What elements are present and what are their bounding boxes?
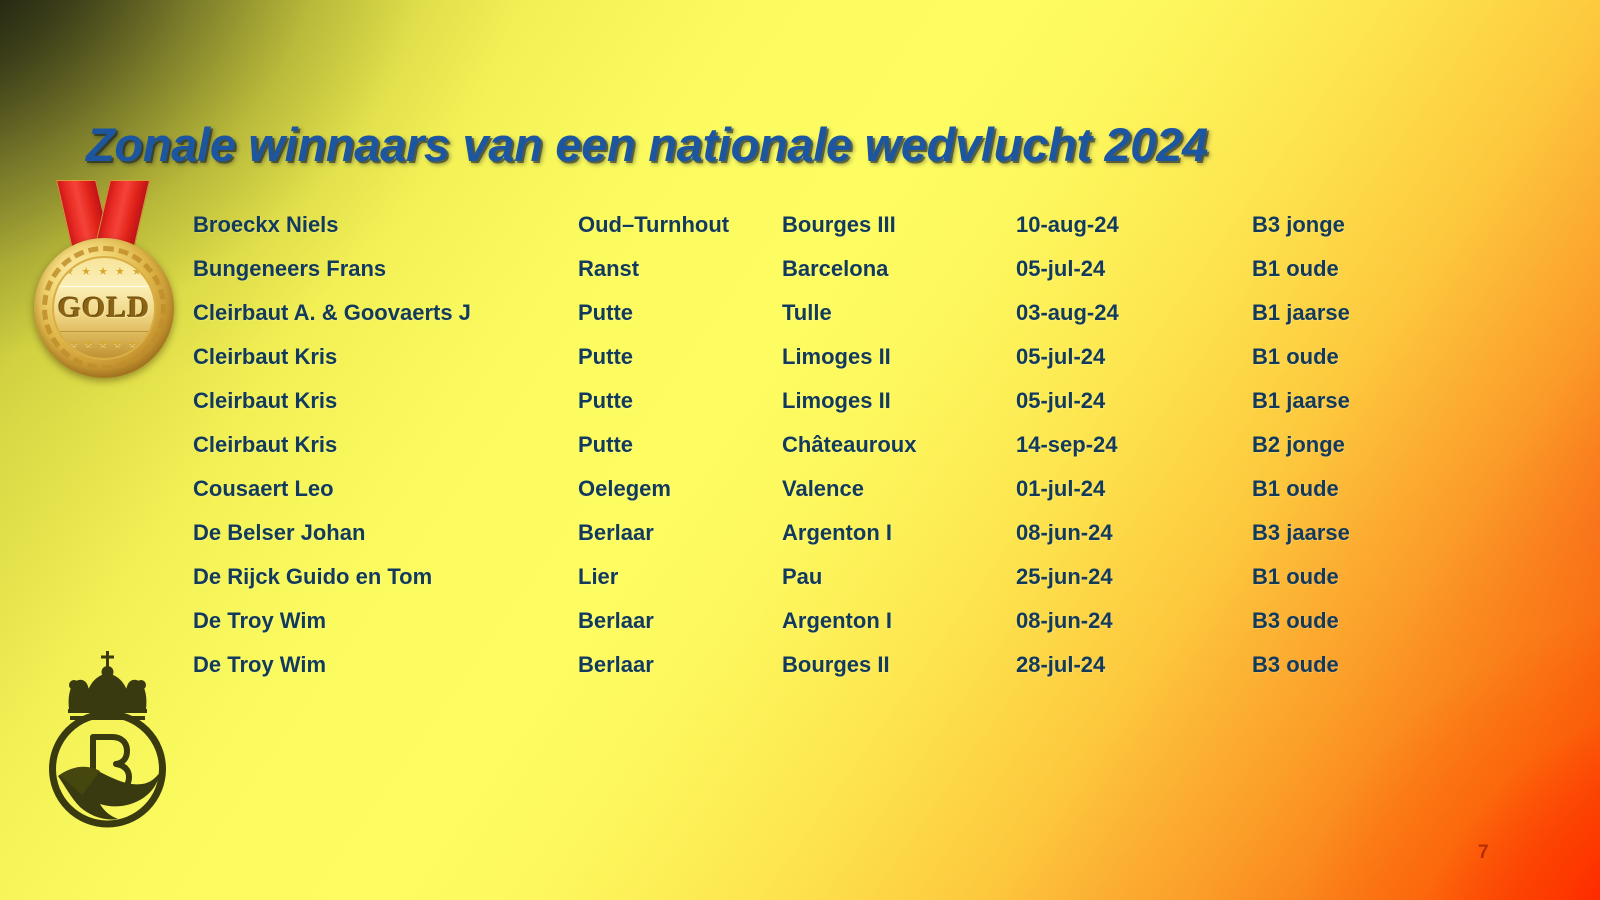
- race-name: Pau: [782, 555, 822, 599]
- winner-name: Broeckx Niels: [193, 203, 339, 247]
- race-date: 10-aug-24: [1016, 203, 1119, 247]
- winner-name: De Belser Johan: [193, 511, 365, 555]
- race-date: 14-sep-24: [1016, 423, 1118, 467]
- table-row: De Troy WimBerlaarArgenton I08-jun-24B3 …: [193, 599, 1483, 643]
- race-name: Châteauroux: [782, 423, 916, 467]
- winner-name: Cleirbaut A. & Goovaerts J: [193, 291, 471, 335]
- race-date: 08-jun-24: [1016, 511, 1113, 555]
- race-category: B3 jonge: [1252, 203, 1345, 247]
- table-row: Cleirbaut KrisPutteLimoges II05-jul-24B1…: [193, 335, 1483, 379]
- table-row: Bungeneers FransRanstBarcelona05-jul-24B…: [193, 247, 1483, 291]
- page-number: 7: [1478, 842, 1489, 864]
- race-category: B3 oude: [1252, 599, 1339, 643]
- race-date: 08-jun-24: [1016, 599, 1113, 643]
- race-name: Bourges II: [782, 643, 890, 687]
- race-category: B2 jonge: [1252, 423, 1345, 467]
- race-date: 05-jul-24: [1016, 379, 1105, 423]
- winner-name: De Troy Wim: [193, 599, 326, 643]
- race-category: B1 oude: [1252, 555, 1339, 599]
- table-row: Cousaert LeoOelegemValence01-jul-24B1 ou…: [193, 467, 1483, 511]
- race-name: Tulle: [782, 291, 832, 335]
- winner-city: Putte: [578, 423, 633, 467]
- race-date: 03-aug-24: [1016, 291, 1119, 335]
- page-title: Zonale winnaars van een nationale wedvlu…: [86, 117, 1506, 172]
- winner-city: Berlaar: [578, 599, 654, 643]
- race-name: Barcelona: [782, 247, 888, 291]
- race-category: B1 oude: [1252, 467, 1339, 511]
- table-row: De Rijck Guido en TomLierPau25-jun-24B1 …: [193, 555, 1483, 599]
- race-category: B3 jaarse: [1252, 511, 1350, 555]
- winner-name: De Troy Wim: [193, 643, 326, 687]
- medal-disc: ★ ★ ★ ★ ★ GOLD ★ ★ ★ ★ ★: [34, 238, 174, 378]
- race-date: 28-jul-24: [1016, 643, 1105, 687]
- table-row: Cleirbaut A. & Goovaerts JPutteTulle03-a…: [193, 291, 1483, 335]
- race-date: 05-jul-24: [1016, 335, 1105, 379]
- race-name: Argenton I: [782, 511, 892, 555]
- table-row: Cleirbaut KrisPutteLimoges II05-jul-24B1…: [193, 379, 1483, 423]
- race-date: 01-jul-24: [1016, 467, 1105, 511]
- winner-name: Cleirbaut Kris: [193, 335, 337, 379]
- race-category: B1 jaarse: [1252, 291, 1350, 335]
- medal-stars-bottom: ★ ★ ★ ★ ★: [54, 340, 154, 349]
- race-name: Valence: [782, 467, 864, 511]
- presentation-slide: Zonale winnaars van een nationale wedvlu…: [0, 0, 1600, 900]
- medal-divider-bottom: [54, 331, 154, 332]
- table-row: De Belser JohanBerlaarArgenton I08-jun-2…: [193, 511, 1483, 555]
- winner-name: Cleirbaut Kris: [193, 379, 337, 423]
- table-row: De Troy WimBerlaarBourges II28-jul-24B3 …: [193, 643, 1483, 687]
- race-name: Limoges II: [782, 379, 891, 423]
- winner-city: Oelegem: [578, 467, 671, 511]
- race-category: B1 oude: [1252, 335, 1339, 379]
- medal-divider-top: [54, 286, 154, 287]
- winner-city: Lier: [578, 555, 618, 599]
- medal-inner-face: ★ ★ ★ ★ ★ GOLD ★ ★ ★ ★ ★: [52, 256, 156, 360]
- winner-name: Bungeneers Frans: [193, 247, 386, 291]
- race-category: B1 oude: [1252, 247, 1339, 291]
- table-row: Cleirbaut KrisPutteChâteauroux14-sep-24B…: [193, 423, 1483, 467]
- race-name: Bourges III: [782, 203, 896, 247]
- winner-name: De Rijck Guido en Tom: [193, 555, 432, 599]
- race-name: Argenton I: [782, 599, 892, 643]
- kbdb-logo: [30, 645, 185, 830]
- winner-city: Putte: [578, 291, 633, 335]
- race-category: B3 oude: [1252, 643, 1339, 687]
- winner-city: Ranst: [578, 247, 639, 291]
- winners-table: Broeckx NielsOud–TurnhoutBourges III10-a…: [193, 203, 1483, 687]
- medal-label: GOLD: [54, 291, 154, 325]
- race-date: 05-jul-24: [1016, 247, 1105, 291]
- gold-medal-icon: ★ ★ ★ ★ ★ GOLD ★ ★ ★ ★ ★: [32, 178, 177, 383]
- winner-city: Putte: [578, 379, 633, 423]
- winner-city: Putte: [578, 335, 633, 379]
- winner-city: Berlaar: [578, 643, 654, 687]
- medal-stars-top: ★ ★ ★ ★ ★: [54, 267, 154, 278]
- winner-name: Cousaert Leo: [193, 467, 334, 511]
- winner-city: Oud–Turnhout: [578, 203, 729, 247]
- table-row: Broeckx NielsOud–TurnhoutBourges III10-a…: [193, 203, 1483, 247]
- winner-city: Berlaar: [578, 511, 654, 555]
- winner-name: Cleirbaut Kris: [193, 423, 337, 467]
- race-category: B1 jaarse: [1252, 379, 1350, 423]
- race-date: 25-jun-24: [1016, 555, 1113, 599]
- race-name: Limoges II: [782, 335, 891, 379]
